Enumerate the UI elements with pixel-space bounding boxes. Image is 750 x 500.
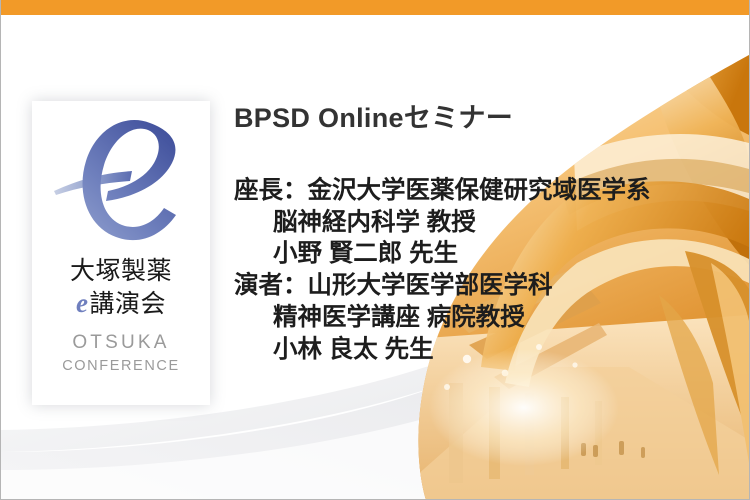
logo-series-e-glyph: e <box>76 288 89 318</box>
logo-latin-primary: OTSUKA <box>72 333 169 354</box>
logo-series-name: e講演会 <box>70 290 172 317</box>
roster-line: 脳神経内科学 教授 <box>234 207 704 239</box>
roster-list: 座長：金沢大学医薬保健研究域医学系 脳神経内科学 教授 小野 賢二郎 先生 演者… <box>234 175 704 366</box>
otsuka-conference-logo-card: 大塚製薬 e講演会 OTSUKA CONFERENCE <box>32 101 210 405</box>
logo-latin-secondary: CONFERENCE <box>62 359 180 375</box>
seminar-announcement-slide: 大塚製薬 e講演会 OTSUKA CONFERENCE BPSD Onlineセ… <box>0 0 750 500</box>
page-title: BPSD Onlineセミナー <box>234 104 704 134</box>
roster-line: 座長：金沢大学医薬保健研究域医学系 <box>234 175 704 207</box>
roster-line: 小野 賢二郎 先生 <box>234 238 704 270</box>
top-accent-bar <box>1 0 750 15</box>
logo-e-mark-icon <box>46 107 196 257</box>
logo-japanese-text: 大塚製薬 e講演会 <box>70 259 172 317</box>
logo-company-name: 大塚製薬 <box>70 259 172 284</box>
roster-line: 演者：山形大学医学部医学科 <box>234 270 704 302</box>
roster-line: 精神医学講座 病院教授 <box>234 302 704 334</box>
slide-text-block: BPSD Onlineセミナー 座長：金沢大学医薬保健研究域医学系 脳神経内科学… <box>234 104 704 366</box>
roster-line: 小林 良太 先生 <box>234 334 704 366</box>
logo-e-mark-wrap <box>32 107 210 257</box>
logo-series-jp-text: 講演会 <box>89 291 166 318</box>
